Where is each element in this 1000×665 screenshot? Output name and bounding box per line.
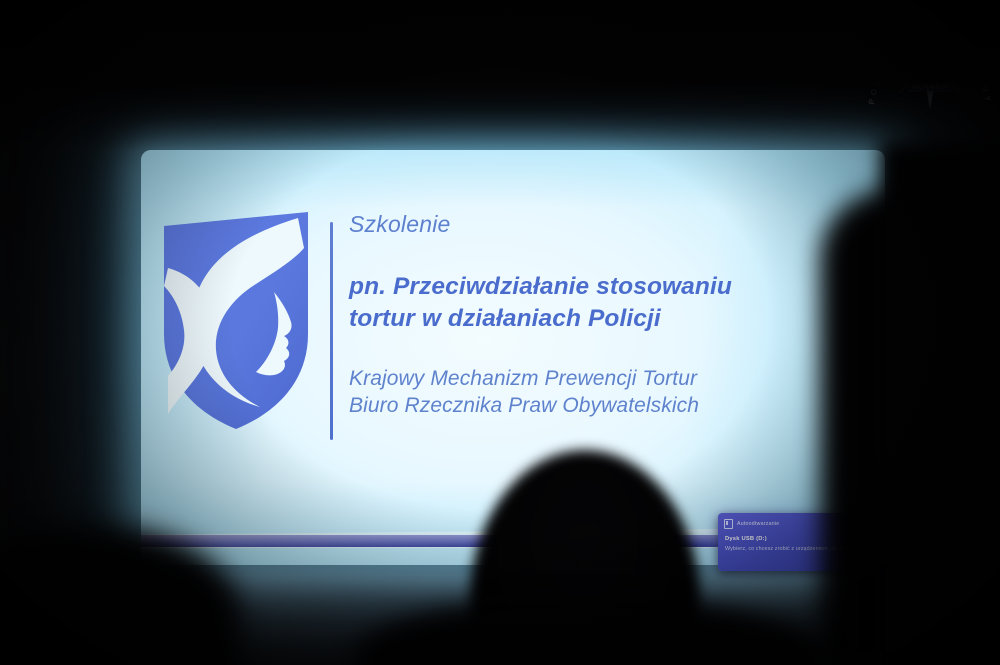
polish-police-badge: POLICJA ŚLĄSKA POMAGAMY I CHRONIMY — [866, 8, 994, 116]
slide-title-line-1: pn. Przeciwdziałanie stosowaniu — [349, 273, 732, 300]
slide-title-line-2: tortur w działaniach Policji — [349, 305, 661, 332]
slide-eyebrow: Szkolenie — [349, 212, 869, 237]
slide-subtitle-line-1: Krajowy Mechanizm Prewencji Tortur — [349, 367, 697, 390]
badge-region-text: ŚLĄSKA — [911, 79, 948, 90]
vertical-rule — [330, 222, 333, 440]
slide-subtitle: Krajowy Mechanizm Prewencji Tortur Biuro… — [349, 365, 869, 420]
slide-text-column: Szkolenie pn. Przeciwdziałanie stosowani… — [349, 212, 869, 420]
autoplay-icon — [724, 519, 733, 529]
room-edge-silhouette-outer — [880, 140, 1000, 665]
notification-app-name: Autoodtwarzanie — [737, 521, 779, 527]
photo-scene: Szkolenie pn. Przeciwdziałanie stosowani… — [0, 0, 1000, 665]
slide-subtitle-line-2: Biuro Rzecznika Praw Obywatelskich — [349, 394, 699, 417]
kmpt-shield-face-logo — [156, 208, 316, 433]
slide-title: pn. Przeciwdziałanie stosowaniu tortur w… — [349, 271, 869, 335]
